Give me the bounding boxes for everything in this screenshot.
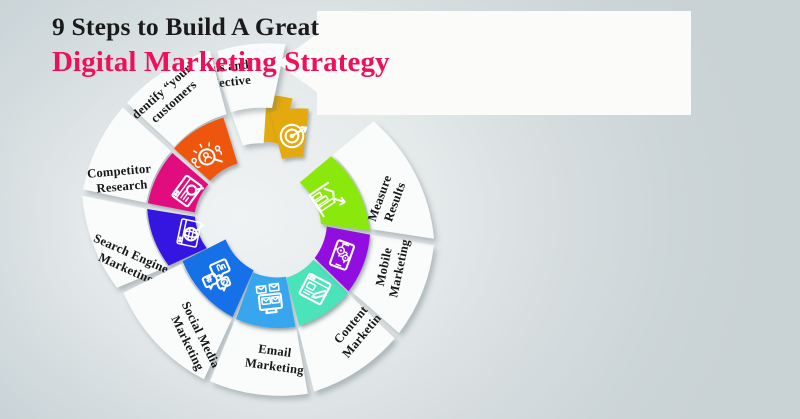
title-line-1: 9 Steps to Build A Great	[52, 13, 402, 42]
infographic-canvas: Goals and Objective	[0, 0, 800, 419]
title-banner-text: 9 Steps to Build A Great Digital Marketi…	[52, 13, 402, 79]
wheel-step-label: Competitor Research	[86, 161, 156, 196]
title-line-2: Digital Marketing Strategy	[52, 45, 402, 79]
wheel-step-measure-results[interactable]: Measure Results	[300, 121, 434, 239]
